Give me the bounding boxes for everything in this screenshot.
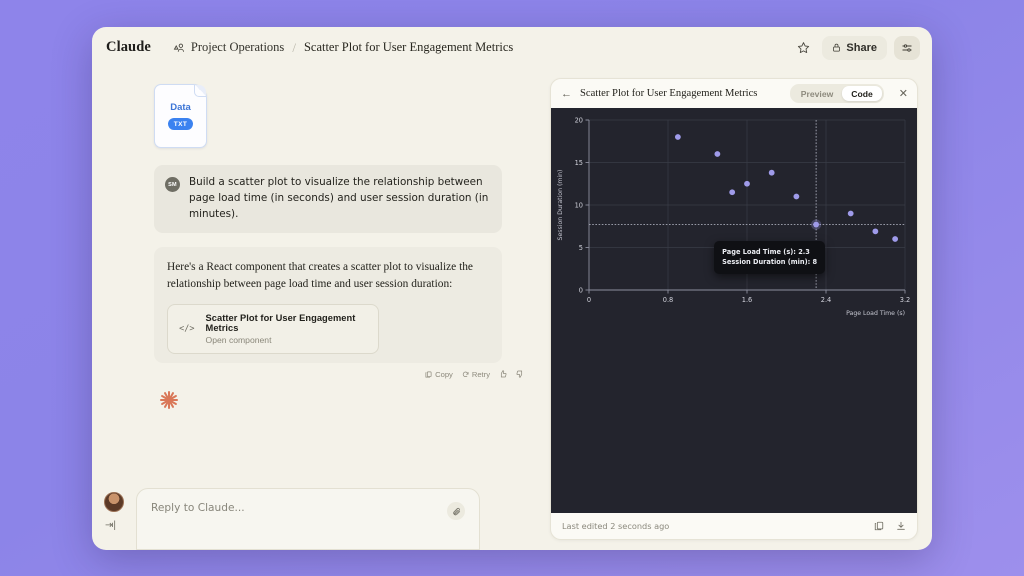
user-message-text: Build a scatter plot to visualize the re… <box>189 175 490 222</box>
chart-point[interactable] <box>892 236 898 242</box>
chart-point[interactable] <box>793 194 799 200</box>
top-bar: Claude Project Operations / Scatter Plot… <box>92 27 932 68</box>
retry-icon <box>462 371 469 378</box>
artifact-footer-actions <box>874 521 906 531</box>
copy-button[interactable]: Copy <box>425 370 453 379</box>
claude-window: Claude Project Operations / Scatter Plot… <box>92 27 932 550</box>
chart-point[interactable] <box>714 151 720 157</box>
attachment-type-badge: TXT <box>168 118 193 130</box>
avatar: SM <box>165 177 180 192</box>
sliders-icon[interactable] <box>894 36 920 60</box>
claude-sparkle-icon <box>160 391 178 409</box>
artifact-card-title: Scatter Plot for User Engagement Metrics <box>206 313 368 333</box>
x-axis-label: Page Load Time (s) <box>846 310 905 317</box>
retry-label: Retry <box>472 370 490 379</box>
chart-point[interactable] <box>813 222 819 228</box>
project-people-icon <box>173 42 185 54</box>
tooltip-line-1: Page Load Time (s): 2.3 <box>722 247 817 258</box>
copy-icon <box>425 371 432 378</box>
scatter-chart: 0510152000.81.62.43.2 Session Duration (… <box>551 108 918 323</box>
chart-points <box>675 134 898 242</box>
copy-icon[interactable] <box>874 521 884 531</box>
svg-text:2.4: 2.4 <box>821 296 832 304</box>
tooltip-line-2: Session Duration (min): 8 <box>722 257 817 268</box>
artifact-card-subtitle: Open component <box>206 335 368 345</box>
close-icon[interactable]: ✕ <box>899 87 908 100</box>
artifact-canvas: 0510152000.81.62.43.2 Session Duration (… <box>551 108 917 513</box>
artifact-title: Scatter Plot for User Engagement Metrics <box>580 88 757 99</box>
lock-icon <box>832 43 841 52</box>
svg-text:20: 20 <box>575 116 583 124</box>
download-icon[interactable] <box>896 521 906 531</box>
attachment-card[interactable]: Data TXT <box>154 84 207 148</box>
paperclip-icon[interactable] <box>447 502 465 520</box>
chart-tooltip: Page Load Time (s): 2.3 Session Duration… <box>714 241 825 275</box>
svg-text:10: 10 <box>575 201 583 209</box>
breadcrumb-project[interactable]: Project Operations <box>191 40 284 55</box>
artifact-open-card[interactable]: </> Scatter Plot for User Engagement Met… <box>167 304 379 354</box>
chart-point[interactable] <box>729 189 735 195</box>
thumbs-down-icon[interactable] <box>516 370 524 378</box>
artifact-footer: Last edited 2 seconds ago <box>551 513 917 539</box>
svg-text:3.2: 3.2 <box>900 296 911 304</box>
chart-point[interactable] <box>675 134 681 140</box>
attachment-name: Data <box>170 102 191 113</box>
svg-text:0: 0 <box>587 296 591 304</box>
user-message: SM Build a scatter plot to visualize the… <box>154 165 502 233</box>
svg-text:1.6: 1.6 <box>742 296 753 304</box>
artifact-panel: ← Scatter Plot for User Engagement Metri… <box>550 78 918 540</box>
reply-input[interactable]: Reply to Claude... <box>151 502 245 514</box>
svg-text:0: 0 <box>579 286 583 294</box>
tab-code[interactable]: Code <box>842 86 881 101</box>
tab-preview[interactable]: Preview <box>792 86 843 101</box>
conversation-pane: Data TXT SM Build a scatter plot to visu… <box>92 68 544 550</box>
chart-point[interactable] <box>744 181 750 187</box>
share-label: Share <box>846 42 877 54</box>
message-list: Data TXT SM Build a scatter plot to visu… <box>92 68 544 550</box>
svg-text:5: 5 <box>579 244 583 252</box>
breadcrumb-current: Scatter Plot for User Engagement Metrics <box>304 40 513 55</box>
svg-text:15: 15 <box>575 159 583 167</box>
chart-point[interactable] <box>872 228 878 234</box>
sidebar-expand-icon[interactable]: ⇥| <box>105 520 116 531</box>
main-area: Data TXT SM Build a scatter plot to visu… <box>92 68 932 550</box>
assistant-message-text: Here's a React component that creates a … <box>167 259 489 292</box>
thumbs-up-icon[interactable] <box>499 370 507 378</box>
chart-point[interactable] <box>848 211 854 217</box>
message-actions: Copy Retry <box>154 370 524 379</box>
top-bar-actions: Share <box>791 36 920 60</box>
share-button[interactable]: Share <box>822 36 887 60</box>
y-axis-label: Session Duration (min) <box>557 170 564 241</box>
svg-text:0.8: 0.8 <box>663 296 674 304</box>
copy-label: Copy <box>435 370 453 379</box>
star-icon[interactable] <box>791 36 815 60</box>
artifact-pane: ← Scatter Plot for User Engagement Metri… <box>544 68 932 550</box>
scatter-svg: 0510152000.81.62.43.2 Session Duration (… <box>551 108 918 323</box>
reply-composer[interactable]: Reply to Claude... <box>136 488 480 550</box>
breadcrumb-separator: / <box>292 40 296 56</box>
artifact-header: ← Scatter Plot for User Engagement Metri… <box>551 79 917 108</box>
breadcrumb: Project Operations / Scatter Plot for Us… <box>173 40 513 56</box>
chart-tick-labels: 0510152000.81.62.43.2 <box>575 116 911 304</box>
user-avatar[interactable] <box>104 492 124 512</box>
last-edited-status: Last edited 2 seconds ago <box>562 521 669 531</box>
assistant-message: Here's a React component that creates a … <box>154 247 502 362</box>
composer-row: ⇥| Reply to Claude... <box>92 488 544 550</box>
retry-button[interactable]: Retry <box>462 370 490 379</box>
code-icon: </> <box>178 319 196 339</box>
back-arrow-icon[interactable]: ← <box>561 88 572 100</box>
app-brand: Claude <box>106 39 151 56</box>
view-toggle: Preview Code <box>790 84 884 103</box>
chart-point[interactable] <box>769 170 775 176</box>
